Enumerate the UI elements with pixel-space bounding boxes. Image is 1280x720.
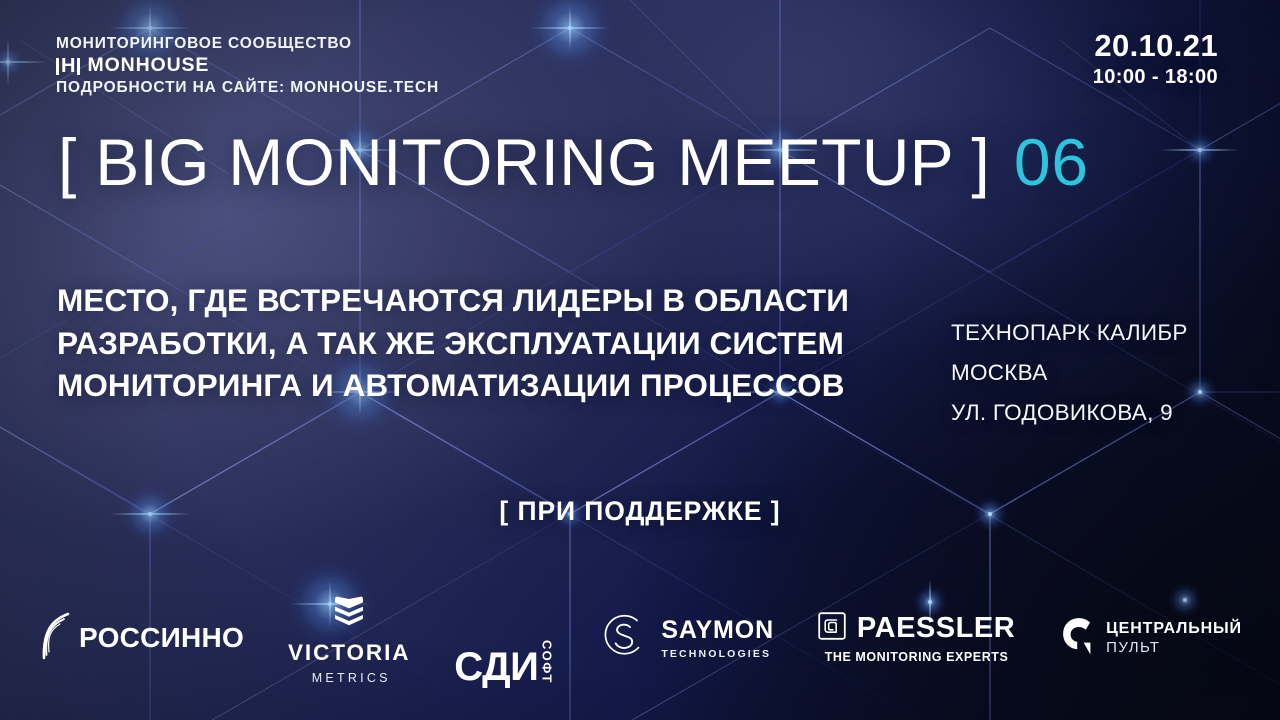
sponsor-name-paessler: PAESSLER (857, 612, 1015, 645)
sponsor-sub-technologies: TECHNOLOGIES (661, 648, 774, 660)
sponsor-logo-rossinno[interactable]: РОССИННО (38, 590, 244, 686)
c-mark-icon (1059, 614, 1095, 663)
monhouse-logo-h: H (61, 56, 75, 76)
event-date: 20.10.21 (1093, 30, 1218, 63)
sponsor-logo-saymon[interactable]: SAYMON TECHNOLOGIES (597, 590, 774, 686)
supported-by-label: [ ПРИ ПОДДЕРЖКЕ ] (499, 496, 780, 526)
title-text: [ BIG MONITORING MEETUP ] (58, 129, 990, 195)
tagline-line-3: МОНИТОРИНГА И АВТОМАТИЗАЦИИ ПРОЦЕССОВ (57, 364, 937, 407)
page-title: [ BIG MONITORING MEETUP ] 06 (58, 129, 1089, 195)
sponsor-logo-paessler[interactable]: PAESSLER THE MONITORING EXPERTS (818, 590, 1015, 686)
tagline-line-2: РАЗРАБОТКИ, А ТАК ЖЕ ЭКСПЛУАТАЦИИ СИСТЕМ (57, 322, 937, 365)
venue-name: ТЕХНОПАРК КАЛИБР (951, 313, 1188, 353)
swoosh-arcs-icon (38, 611, 72, 666)
datetime-block: 20.10.21 10:00 - 18:00 (1093, 30, 1218, 88)
site-label: ПОДРОБНОСТИ НА САЙТЕ: MONHOUSE.TECH (56, 77, 439, 99)
venue-address: УЛ. ГОДОВИКОВА, 9 (951, 393, 1188, 433)
monhouse-mark-icon: H (56, 56, 80, 76)
event-poster: МОНИТОРИНГОВОЕ СООБЩЕСТВО H MONHOUSE ПОД… (0, 0, 1280, 720)
monhouse-wordmark: MONHOUSE (87, 56, 209, 76)
venue-city: МОСКВА (951, 353, 1188, 393)
sponsor-logo-victoriametrics[interactable]: VICTORIA METRICS (288, 590, 410, 686)
sponsor-name-victoria: VICTORIA (288, 640, 410, 666)
tagline-line-1: МЕСТО, ГДЕ ВСТРЕЧАЮТСЯ ЛИДЕРЫ В ОБЛАСТИ (57, 279, 937, 322)
square-spiral-icon (818, 612, 846, 645)
sponsor-name-pult-line2: ПУЛЬТ (1106, 639, 1242, 656)
event-time: 10:00 - 18:00 (1093, 67, 1218, 88)
sponsor-sub-monitoring-experts: THE MONITORING EXPERTS (825, 650, 1009, 664)
venue-block: ТЕХНОПАРК КАЛИБР МОСКВА УЛ. ГОДОВИКОВА, … (951, 313, 1188, 433)
sponsor-name-rossinno: РОССИННО (79, 622, 244, 654)
sponsor-name-pult-line1: ЦЕНТРАЛЬНЫЙ (1106, 620, 1242, 638)
sponsor-sub-soft: СОФТ (540, 640, 553, 684)
tagline-block: МЕСТО, ГДЕ ВСТРЕЧАЮТСЯ ЛИДЕРЫ В ОБЛАСТИ … (57, 279, 937, 407)
sponsor-sub-metrics: METRICS (308, 671, 391, 685)
brand-block: МОНИТОРИНГОВОЕ СООБЩЕСТВО H MONHOUSE ПОД… (56, 33, 439, 99)
community-label: МОНИТОРИНГОВОЕ СООБЩЕСТВО (56, 33, 439, 55)
sponsor-name-saymon: SAYMON (661, 616, 774, 645)
sponsor-logo-sdisoft[interactable]: СДИ СОФТ (454, 590, 553, 686)
supported-by-heading: [ ПРИ ПОДДЕРЖКЕ ] (0, 496, 1280, 527)
chevron-shield-icon (330, 592, 368, 635)
title-edition-number: 06 (1014, 129, 1089, 195)
sponsor-name-sdi: СДИ (454, 649, 538, 686)
sponsor-logo-centralny-pult[interactable]: ЦЕНТРАЛЬНЫЙ ПУЛЬТ (1059, 590, 1242, 686)
monhouse-logo[interactable]: H MONHOUSE (56, 56, 439, 76)
sponsor-logos-row: РОССИННО VICTORIA METRICS СДИ СОФТ (38, 590, 1242, 686)
circle-s-icon (597, 610, 649, 667)
